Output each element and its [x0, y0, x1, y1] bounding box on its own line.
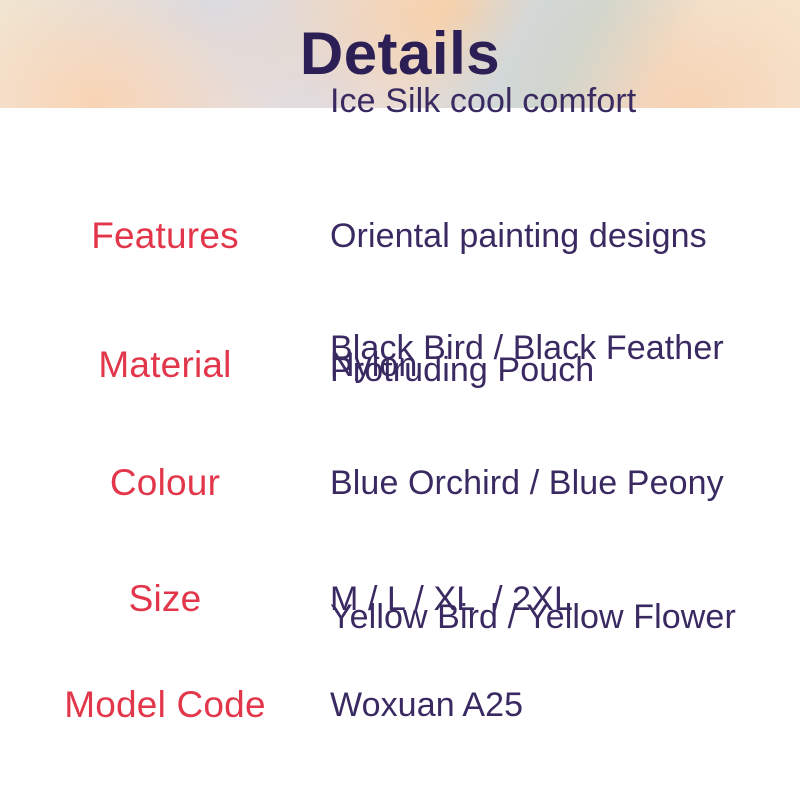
spec-value-line: Woxuan A25	[330, 683, 800, 728]
spec-label-material: Material	[0, 343, 330, 387]
table-row-model-code: Model Code Woxuan A25	[0, 674, 800, 736]
spec-value-model-code: Woxuan A25	[330, 593, 800, 800]
spec-label-colour: Colour	[0, 461, 330, 505]
spec-label-size: Size	[0, 577, 330, 621]
details-page: Details Features Ice Silk cool comfort O…	[0, 0, 800, 800]
spec-label-model-code: Model Code	[0, 683, 330, 727]
specification-table: Features Ice Silk cool comfort Oriental …	[0, 108, 800, 736]
spec-value-line: Black Bird / Black Feather	[330, 326, 800, 371]
spec-label-features: Features	[0, 214, 330, 258]
page-title: Details	[300, 24, 500, 84]
